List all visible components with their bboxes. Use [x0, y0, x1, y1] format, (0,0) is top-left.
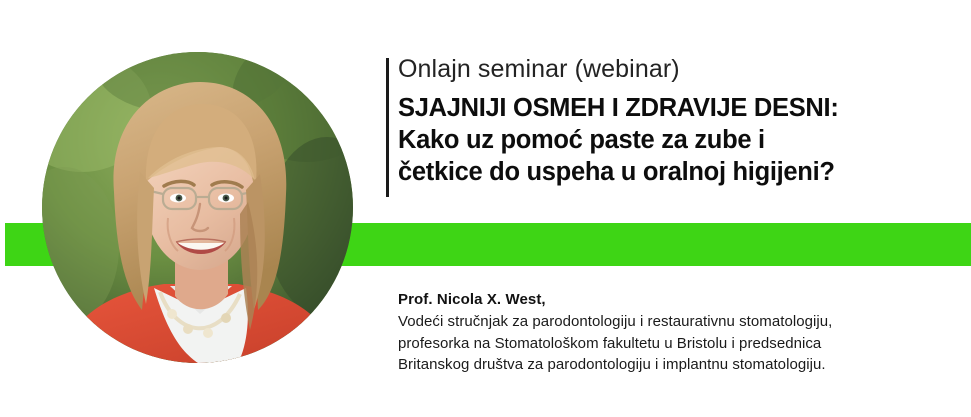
- headline-line-3: četkice do uspeha u oralnoj higijeni?: [398, 156, 958, 188]
- speaker-name: Prof. Nicola X. West,: [398, 289, 943, 310]
- speaker-bio-line-2: profesorka na Stomatološkom fakultetu u …: [398, 333, 943, 355]
- speaker-portrait: [42, 52, 353, 363]
- webinar-banner: Onlajn seminar (webinar) SJAJNIJI OSMEH …: [0, 0, 971, 417]
- headline-line-1: SJAJNIJI OSMEH I ZDRAVIJE DESNI:: [398, 92, 958, 124]
- speaker-bio: Vodeći stručnjak za parodontologiju i re…: [398, 311, 943, 376]
- speaker-bio-line-3: Britanskog društva za parodontologiju i …: [398, 354, 943, 376]
- headline-line-2: Kako uz pomoć paste za zube i: [398, 124, 958, 156]
- speaker-block: Prof. Nicola X. West, Vodeći stručnjak z…: [398, 289, 943, 376]
- eyebrow-label: Onlajn seminar (webinar): [398, 54, 958, 84]
- title-divider-rule: [386, 58, 389, 197]
- heading-block: Onlajn seminar (webinar) SJAJNIJI OSMEH …: [398, 54, 958, 188]
- speaker-bio-line-1: Vodeći stručnjak za parodontologiju i re…: [398, 311, 943, 333]
- page-title: SJAJNIJI OSMEH I ZDRAVIJE DESNI: Kako uz…: [398, 92, 958, 188]
